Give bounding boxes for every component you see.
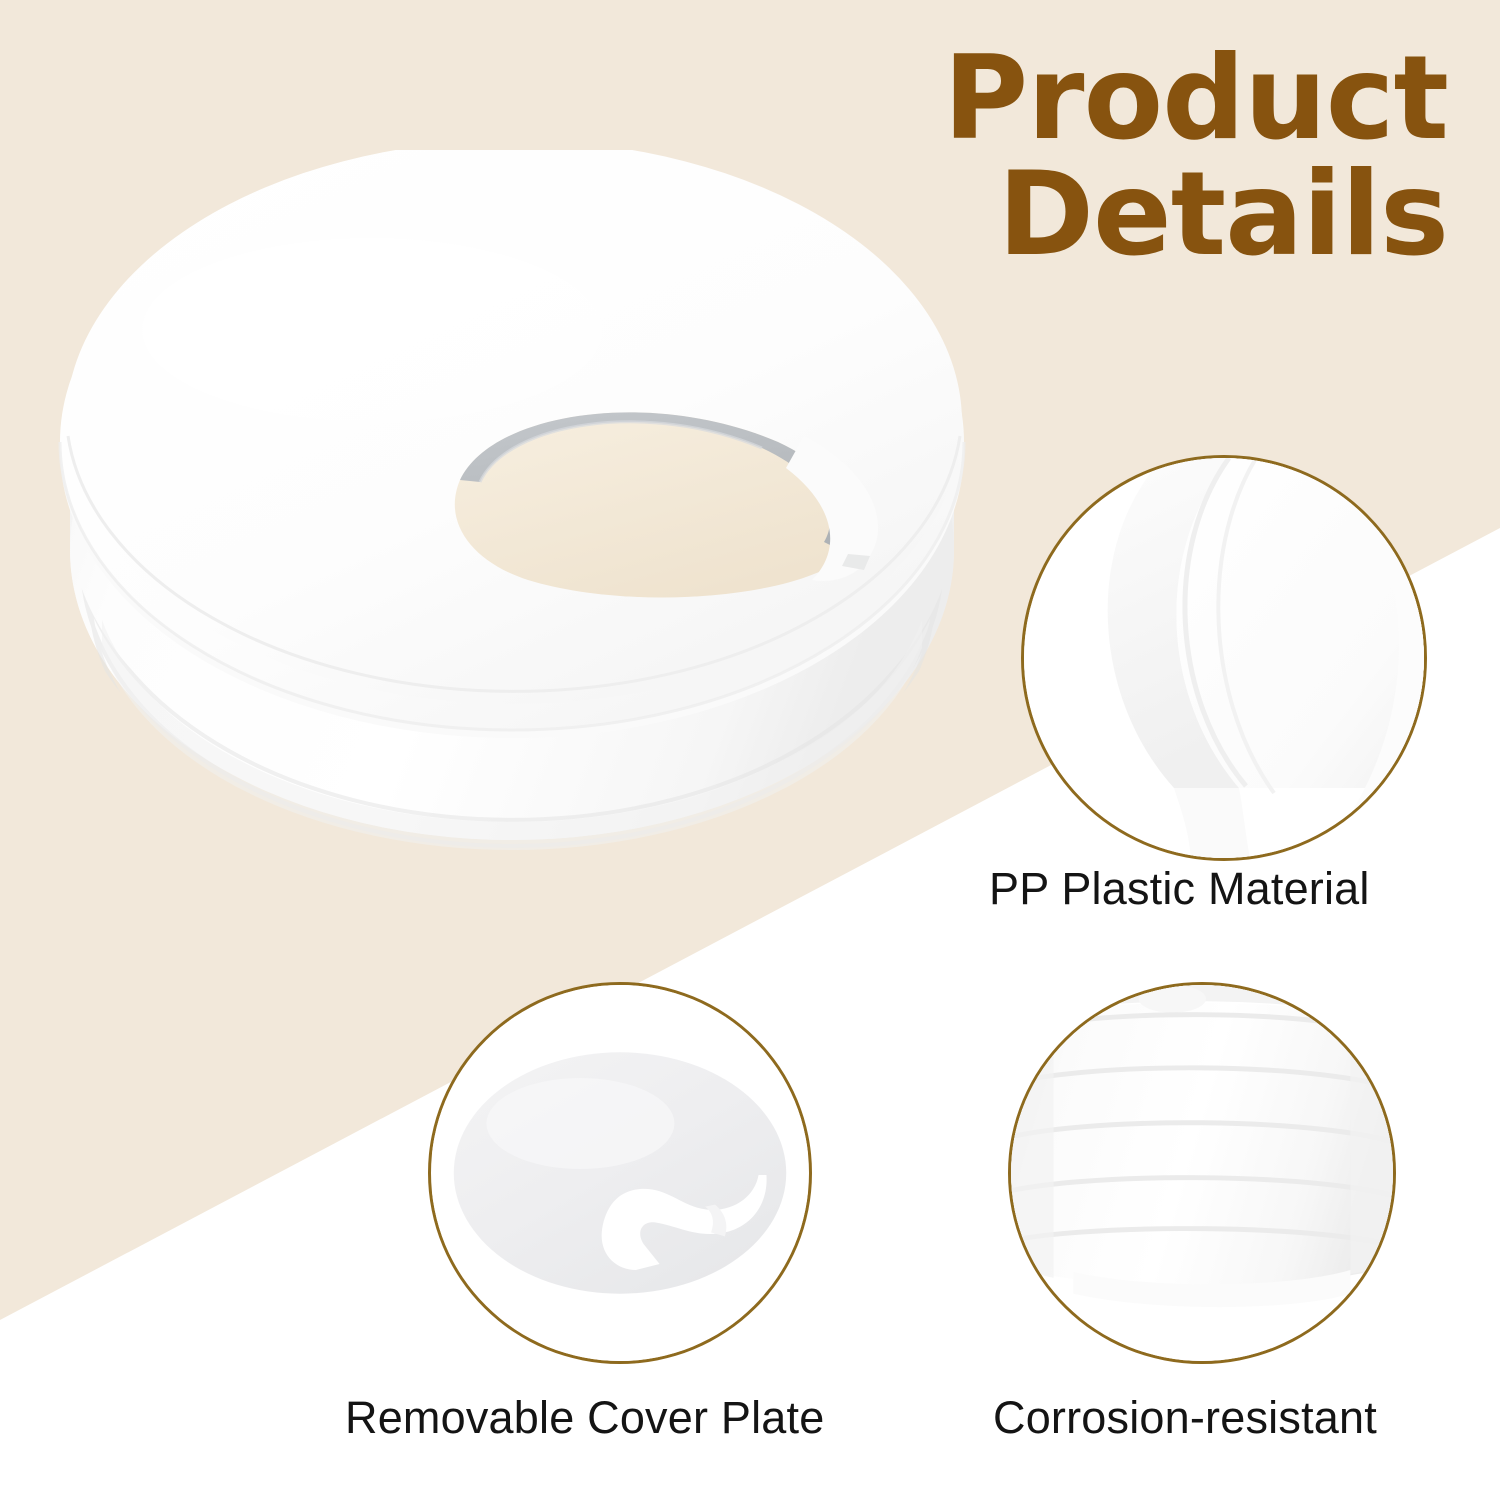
detail-circle-removable-cover-plate [428,982,812,1364]
caption-removable-cover-plate: Removable Cover Plate [345,1392,824,1444]
hero-product-image [42,150,982,890]
caption-corrosion-resistant: Corrosion-resistant [993,1392,1377,1444]
detail-circle-pp-plastic-material [1021,455,1427,861]
infographic-canvas: Product Details [0,0,1500,1500]
title-line-1: Product [943,44,1448,154]
title-line-2: Details [943,160,1448,270]
grommet-cap-plate [66,150,962,704]
detail-circle-corrosion-resistant [1008,982,1396,1364]
caption-pp-plastic-material: PP Plastic Material [989,863,1370,915]
page-title: Product Details [943,44,1448,270]
